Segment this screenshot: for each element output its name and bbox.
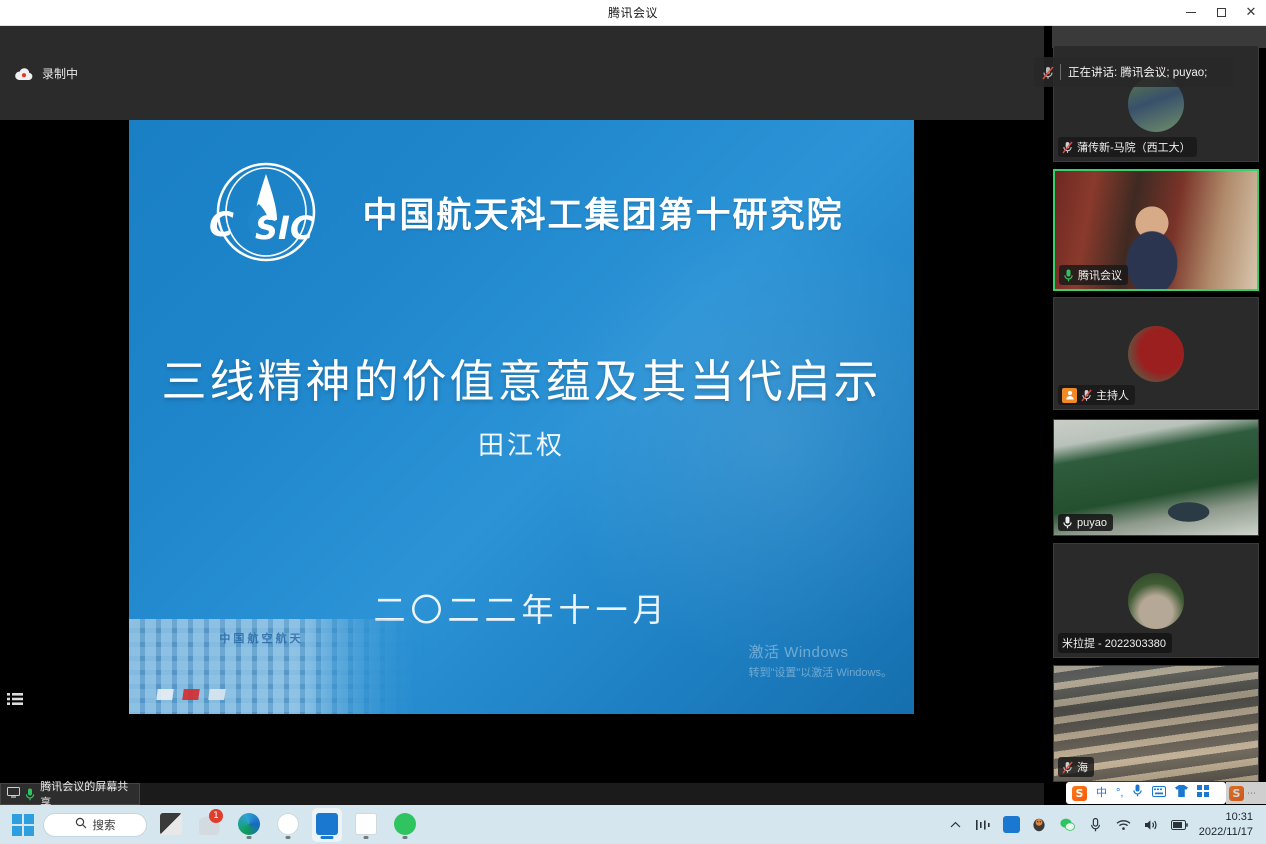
svg-text:C: C	[209, 205, 234, 245]
share-surface: C SIC 中国航天科工集团第十研究院 三线精神的价值意蕴及其当代启示 田江权 …	[0, 120, 1044, 717]
watermark-line1: 激活 Windows	[749, 641, 893, 662]
apps-icon[interactable]	[1197, 784, 1209, 802]
mic-muted-icon	[1062, 761, 1073, 774]
cloud-record-icon	[14, 67, 34, 81]
maximize-button[interactable]	[1206, 0, 1236, 26]
stage-top-bar	[0, 26, 1044, 120]
ime-punctuation-mode[interactable]: °,	[1116, 788, 1123, 799]
taskbar-item-weather[interactable]: 1	[195, 808, 225, 842]
slide-title: 三线精神的价值意蕴及其当代启示	[129, 345, 914, 410]
participant-tile[interactable]: 主持人	[1053, 297, 1259, 410]
recording-label: 录制中	[42, 65, 78, 82]
search-icon	[75, 817, 87, 832]
search-input[interactable]: 搜索	[43, 813, 147, 837]
screen-share-bar[interactable]: 腾讯会议的屏幕共享	[0, 783, 140, 805]
share-bar-filler	[140, 783, 1044, 805]
ime-more-icon[interactable]: ⋯	[1247, 788, 1256, 799]
participant-tile[interactable]: 米拉提 - 2022303380	[1053, 543, 1259, 658]
participant-name: 蒲传新-马院（西工大）	[1077, 139, 1191, 155]
host-badge-icon	[1062, 388, 1077, 403]
equalizer-icon[interactable]	[975, 816, 992, 833]
participant-name: 米拉提 - 2022303380	[1062, 635, 1166, 651]
window-controls: ✕	[1176, 0, 1266, 26]
tencent-meeting-tray-icon[interactable]	[1003, 816, 1020, 833]
participant-label: puyao	[1058, 514, 1113, 531]
wechat-tray-icon[interactable]	[1059, 816, 1076, 833]
wifi-icon[interactable]	[1115, 816, 1132, 833]
running-indicator	[403, 836, 408, 839]
qq-icon[interactable]	[1031, 816, 1048, 833]
taskbar-clock[interactable]: 10:31 2022/11/17	[1199, 810, 1257, 840]
slide-header: C SIC 中国航天科工集团第十研究院	[129, 160, 914, 265]
taskbar-item-file-explorer[interactable]	[156, 808, 186, 842]
running-indicator	[286, 836, 291, 839]
running-indicator	[247, 836, 252, 839]
mic-icon[interactable]	[1087, 816, 1104, 833]
search-placeholder: 搜索	[93, 817, 116, 833]
windows-taskbar: 搜索 1	[0, 805, 1266, 844]
taskbar-item-sogou-browser[interactable]	[273, 808, 303, 842]
list-view-icon[interactable]	[4, 688, 26, 710]
participant-tile[interactable]: 海	[1053, 665, 1259, 782]
participant-name: 主持人	[1096, 387, 1129, 403]
maximize-icon	[1217, 8, 1226, 17]
close-icon: ✕	[1246, 6, 1257, 19]
participant-tile[interactable]: puyao	[1053, 419, 1259, 536]
close-button[interactable]: ✕	[1236, 0, 1266, 26]
mic-icon[interactable]	[1132, 784, 1143, 802]
active-speaker-text: 正在讲话: 腾讯会议; puyao;	[1068, 64, 1207, 80]
slide-building-caption: 中 国 航 空 航 天	[135, 630, 385, 646]
start-icon[interactable]	[12, 814, 34, 836]
participant-name: puyao	[1077, 517, 1107, 529]
participant-name: 海	[1077, 759, 1088, 775]
watermark-line2: 转到"设置"以激活 Windows。	[749, 664, 893, 680]
ime-toolbar-overflow[interactable]: S ⋯	[1226, 782, 1266, 804]
clock-date: 2022/11/17	[1199, 825, 1253, 840]
running-indicator	[321, 836, 334, 839]
flag-icon	[156, 689, 174, 700]
flag-icon	[182, 689, 200, 700]
skin-icon[interactable]	[1175, 784, 1188, 802]
participant-label: 腾讯会议	[1059, 265, 1128, 285]
presentation-slide: C SIC 中国航天科工集团第十研究院 三线精神的价值意蕴及其当代启示 田江权 …	[129, 120, 914, 714]
participant-label: 蒲传新-马院（西工大）	[1058, 137, 1197, 157]
stage-bottom-area	[0, 717, 1044, 783]
slide-organization: 中国航天科工集团第十研究院	[362, 187, 843, 238]
taskbar-item-edge[interactable]	[234, 808, 264, 842]
window-titlebar: 腾讯会议 ✕	[0, 0, 1266, 26]
slide-author: 田江权	[129, 425, 914, 462]
volume-icon[interactable]	[1143, 816, 1160, 833]
window-title: 腾讯会议	[90, 4, 1176, 21]
clock-time: 10:31	[1199, 810, 1253, 825]
wechat-icon	[394, 813, 416, 835]
system-tray: 10:31 2022/11/17	[947, 810, 1266, 840]
minimize-button[interactable]	[1176, 0, 1206, 26]
cosic-logo-icon: C SIC	[199, 160, 334, 265]
sogou-logo-icon[interactable]: S	[1229, 786, 1244, 801]
ime-toolbar[interactable]: S 中 °,	[1066, 782, 1226, 804]
mic-on-icon	[25, 788, 35, 801]
active-speaker-banner: 正在讲话: 腾讯会议; puyao;	[1034, 57, 1234, 87]
ime-chinese-mode[interactable]: 中	[1096, 788, 1107, 799]
participant-tile[interactable]: 腾讯会议	[1053, 169, 1259, 291]
participant-label: 海	[1058, 757, 1094, 777]
minimize-icon	[1186, 12, 1196, 13]
banner-divider	[1060, 64, 1061, 80]
slide-flags	[157, 689, 225, 700]
avatar	[1128, 326, 1184, 382]
recording-indicator: 录制中	[14, 65, 78, 82]
windows-activation-watermark: 激活 Windows 转到"设置"以激活 Windows。	[749, 641, 893, 680]
mic-on-icon	[1062, 516, 1073, 529]
battery-icon[interactable]	[1171, 816, 1188, 833]
avatar	[1128, 573, 1184, 629]
flag-icon	[208, 689, 226, 700]
mic-muted-icon	[1062, 141, 1073, 154]
search-app-icon	[355, 813, 377, 835]
tencent-meeting-icon	[316, 813, 338, 835]
mic-muted-icon	[1081, 389, 1092, 402]
tencent-meeting-window: 腾讯会议 ✕ 录制中	[0, 0, 1266, 844]
running-indicator	[364, 836, 369, 839]
sogou-logo-icon[interactable]: S	[1072, 786, 1087, 801]
microsoft-edge-icon	[238, 813, 260, 835]
sogou-browser-icon	[277, 813, 299, 835]
svg-text:SIC: SIC	[255, 209, 314, 247]
notification-badge: 1	[209, 809, 223, 823]
taskbar-item-tencent-meeting[interactable]	[312, 808, 342, 842]
monitor-icon	[7, 787, 20, 801]
taskbar-item-wechat[interactable]	[390, 808, 420, 842]
mic-muted-icon	[1042, 66, 1053, 79]
file-explorer-icon	[160, 813, 182, 835]
keyboard-icon[interactable]	[1152, 784, 1166, 802]
chevron-up-icon[interactable]	[947, 816, 964, 833]
taskbar-apps: 搜索 1	[12, 808, 420, 842]
mic-on-icon	[1063, 269, 1074, 282]
participant-label: 主持人	[1058, 385, 1135, 405]
participant-name: 腾讯会议	[1078, 267, 1122, 283]
shared-screen-stage: 录制中 C SIC 中国航天科工集团第十研究院	[0, 26, 1044, 783]
taskbar-item-search-app[interactable]	[351, 808, 381, 842]
participant-label: 米拉提 - 2022303380	[1058, 633, 1172, 653]
